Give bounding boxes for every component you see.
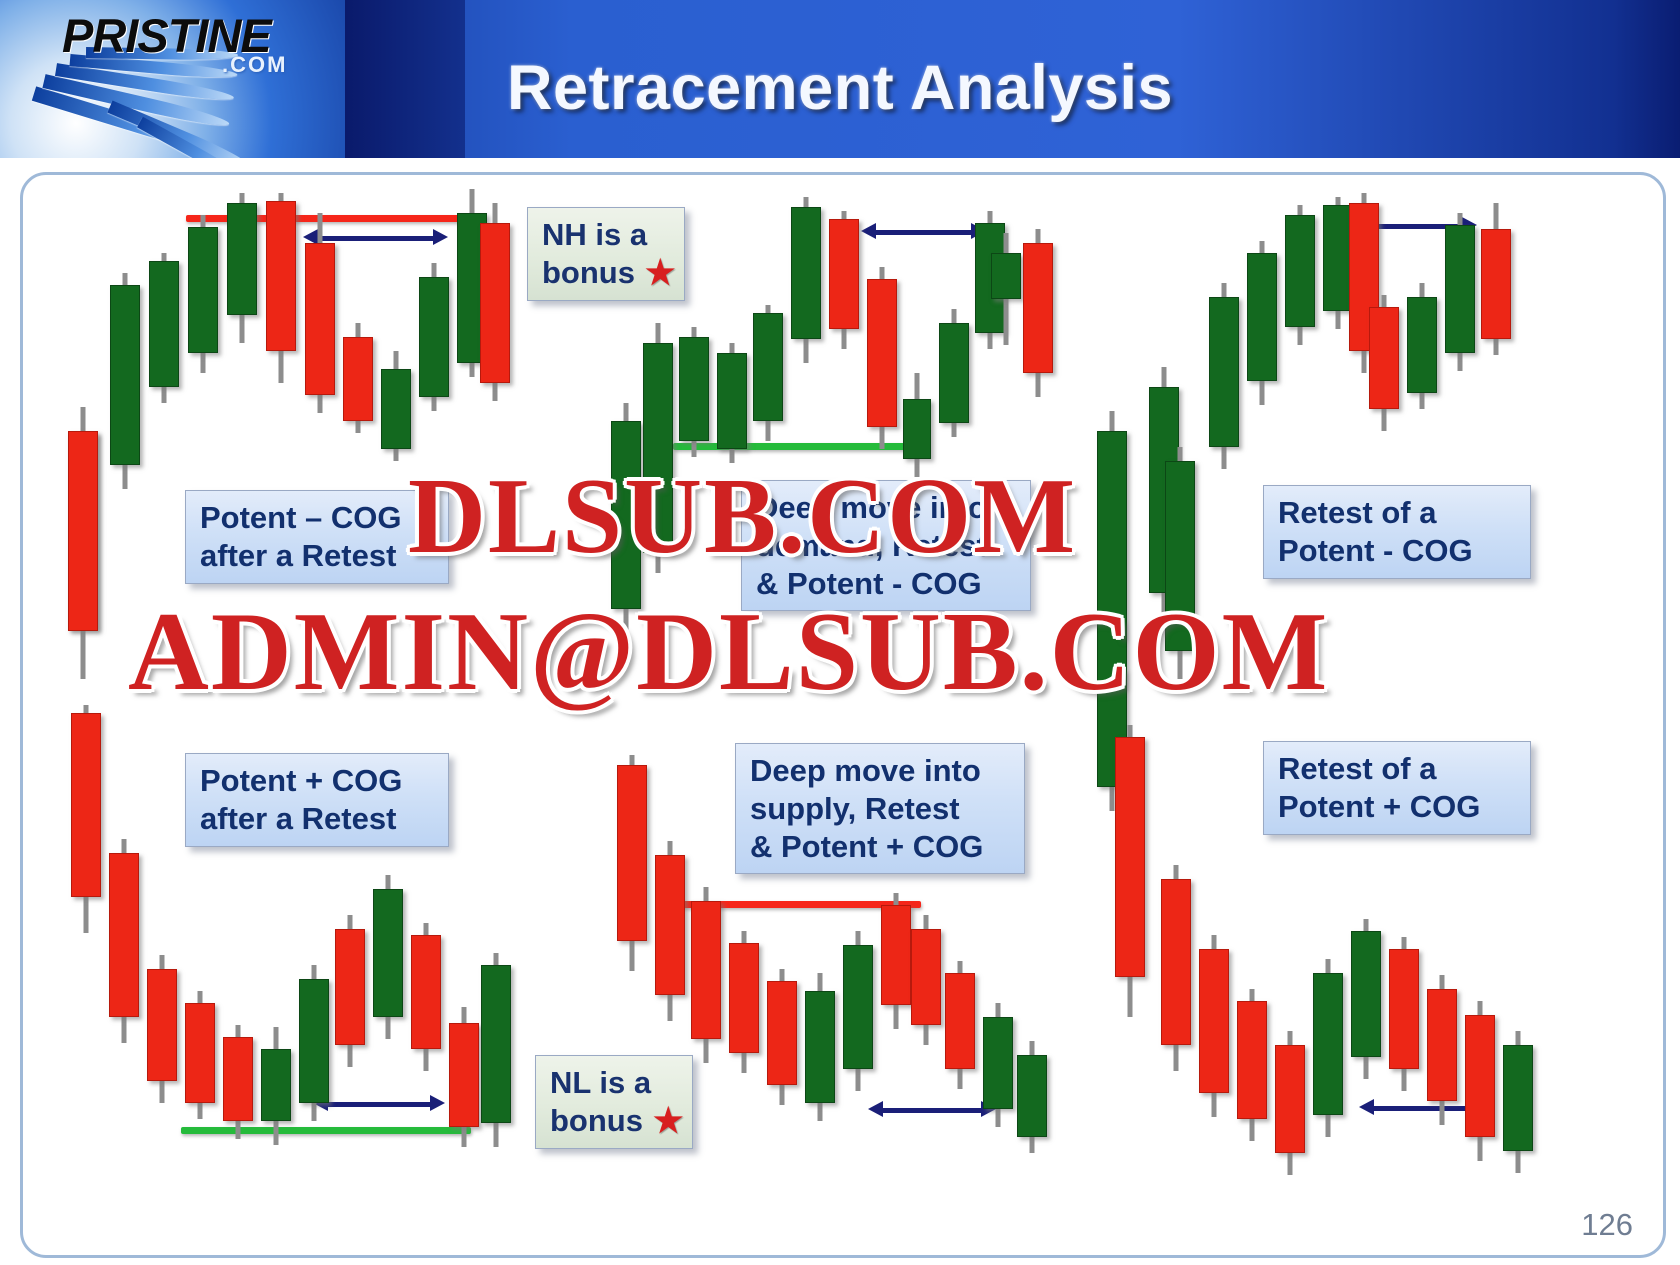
- candle: [1351, 919, 1381, 1079]
- candle: [68, 407, 98, 679]
- callout-retest-of-potent-plus-cog: Retest of a Potent + COG: [1263, 741, 1531, 835]
- candle: [805, 973, 835, 1121]
- candle: [717, 343, 747, 463]
- candle: [1313, 959, 1343, 1137]
- candle: [1115, 725, 1145, 1017]
- candle: [791, 197, 821, 363]
- candle: [767, 969, 797, 1105]
- candle: [829, 211, 859, 349]
- candle: [481, 953, 511, 1147]
- callout-line: after a Retest: [200, 800, 434, 838]
- candle: [867, 267, 897, 449]
- callout-nl-bonus: NL is a bonus ★: [535, 1055, 693, 1149]
- candle: [411, 923, 441, 1071]
- candle: [1023, 229, 1053, 397]
- candle: [223, 1025, 253, 1139]
- retracement-arrow-p2: [861, 227, 986, 236]
- callout-potent-plus-cog-after-retest: Potent + COG after a Retest: [185, 753, 449, 847]
- retracement-arrow-p4: [313, 1099, 445, 1108]
- candle: [881, 893, 911, 1029]
- candle: [1503, 1031, 1533, 1173]
- candle: [188, 215, 218, 373]
- candle: [655, 841, 685, 1021]
- candle: [335, 915, 365, 1067]
- callout-nh-bonus: NH is a bonus ★: [527, 207, 685, 301]
- candle: [1445, 213, 1475, 371]
- candle: [1237, 989, 1267, 1141]
- candle: [991, 233, 1021, 345]
- candle: [261, 1027, 291, 1145]
- candle: [617, 755, 647, 971]
- retracement-arrow-p5: [868, 1105, 996, 1114]
- candle: [843, 931, 873, 1091]
- candle: [480, 203, 510, 401]
- candle: [753, 305, 783, 441]
- callout-line: bonus: [542, 254, 635, 292]
- candle: [1199, 935, 1229, 1117]
- candle: [1161, 865, 1191, 1071]
- slide-root: PRISTINE .COM Retracement Analysis: [0, 0, 1680, 1265]
- callout-line: bonus: [550, 1102, 643, 1140]
- candle: [109, 839, 139, 1043]
- candle: [939, 309, 969, 437]
- candle: [185, 991, 215, 1119]
- candle: [71, 705, 101, 933]
- watermark-email: ADMIN@DLSUB.COM: [128, 588, 1329, 717]
- page-number: 126: [1581, 1207, 1633, 1243]
- candle: [227, 193, 257, 343]
- candle: [1389, 937, 1419, 1091]
- callout-line: after a Retest: [200, 537, 434, 575]
- star-icon: ★: [653, 1104, 683, 1138]
- candle: [1275, 1031, 1305, 1175]
- candle: [1369, 295, 1399, 431]
- candle: [1481, 203, 1511, 355]
- candle: [419, 263, 449, 411]
- callout-line: & Potent + COG: [750, 828, 1010, 866]
- candle: [305, 213, 335, 413]
- callout-line: Potent + COG: [1278, 788, 1516, 826]
- candle: [1209, 283, 1239, 469]
- page-title: Retracement Analysis: [0, 52, 1680, 124]
- candle: [911, 915, 941, 1045]
- candle: [449, 1007, 479, 1147]
- candle: [691, 887, 721, 1063]
- callout-line: supply, Retest: [750, 790, 1010, 828]
- candle: [1247, 241, 1277, 405]
- candle: [983, 1003, 1013, 1127]
- candle: [729, 931, 759, 1073]
- callout-line: Potent + COG: [200, 762, 434, 800]
- callout-line: NL is a: [550, 1064, 678, 1102]
- candle: [343, 323, 373, 433]
- callout-line: Retest of a: [1278, 750, 1516, 788]
- callout-line: Potent – COG: [200, 499, 434, 537]
- candle: [1017, 1041, 1047, 1153]
- callout-deep-move-into-supply: Deep move into supply, Retest & Potent +…: [735, 743, 1025, 874]
- candle: [266, 193, 296, 383]
- callout-line: NH is a: [542, 216, 670, 254]
- callout-line: Retest of a: [1278, 494, 1516, 532]
- candle: [1285, 205, 1315, 345]
- star-icon: ★: [645, 256, 675, 290]
- candle: [1465, 1001, 1495, 1161]
- candle: [945, 961, 975, 1089]
- candle: [373, 875, 403, 1039]
- candle: [110, 273, 140, 489]
- candle: [1407, 283, 1437, 409]
- candle: [1427, 975, 1457, 1125]
- candle: [149, 253, 179, 403]
- candle: [679, 327, 709, 457]
- candle: [381, 351, 411, 461]
- candle: [147, 955, 177, 1103]
- callout-retest-of-potent-minus-cog: Retest of a Potent - COG: [1263, 485, 1531, 579]
- watermark-site: DLSUB.COM: [408, 455, 1077, 579]
- callout-line: Potent - COG: [1278, 532, 1516, 570]
- slide-header: PRISTINE .COM Retracement Analysis: [0, 0, 1680, 158]
- callout-line: Deep move into: [750, 752, 1010, 790]
- candle: [299, 965, 329, 1121]
